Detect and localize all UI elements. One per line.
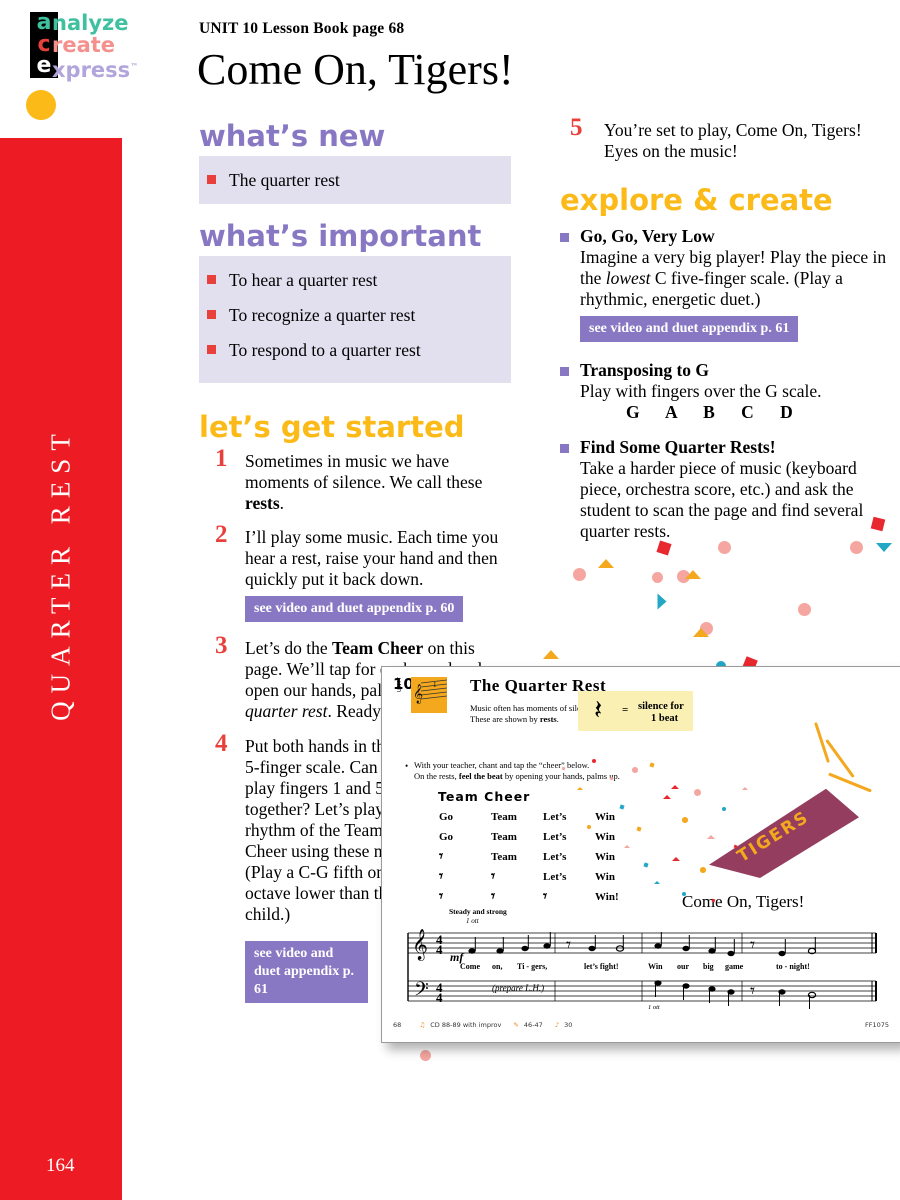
cheer-word-cell: Let’s	[542, 870, 594, 890]
lets-get-started-heading: let’s get started	[199, 411, 511, 443]
bullet-dot-icon: •	[405, 761, 408, 772]
svg-text:big: big	[703, 962, 714, 971]
step-text: I’ll play some music. Each time you hear…	[245, 527, 498, 589]
music-score: 𝄞 𝄢 4 4 4 4 mf	[400, 929, 884, 1011]
inset-footer-cd: CD 88-89 with improv	[430, 1021, 501, 1029]
svg-text:our: our	[677, 962, 689, 971]
cd-icon: ♫	[419, 1021, 425, 1029]
svg-text:1 ott: 1 ott	[648, 1004, 660, 1011]
list-item: The quarter rest	[229, 169, 499, 191]
explore-create-heading: explore & create	[560, 184, 890, 216]
purple-square-bullet-icon	[560, 444, 569, 453]
red-square-bullet-icon	[207, 310, 216, 319]
tempo-marking: Steady and strong	[449, 907, 507, 916]
confetti-square	[649, 762, 654, 767]
quarter-rest-cell: 𝄾	[438, 870, 490, 890]
callout-line2: 1 beat	[651, 713, 678, 724]
inset-footer: 68 ♫ CD 88-89 with improv ✎ 46-47 ♪ 30 F…	[393, 1021, 889, 1029]
step-number: 5	[570, 117, 583, 138]
confetti-triangle	[658, 594, 667, 610]
confetti-triangle	[543, 650, 559, 659]
cheer-word-cell: Win	[594, 870, 646, 890]
logo-word-analyze: nalyze	[52, 13, 138, 35]
equals-sign: =	[622, 704, 628, 716]
whats-new-heading: what’s new	[199, 120, 511, 152]
confetti-circle	[652, 572, 663, 583]
cheer-word-cell: Let’s	[542, 850, 594, 870]
confetti-circle	[700, 622, 713, 635]
cheer-word-cell: Team	[490, 810, 542, 830]
grand-staff-svg: 𝄞 𝄢 4 4 4 4 mf	[400, 929, 884, 1011]
explore-item-transposing-to-g: Transposing to G Play with fingers over …	[560, 360, 890, 423]
explore-item-go-go-very-low: Go, Go, Very Low Imagine a very big play…	[560, 226, 890, 342]
megaphone-graphic: TIGERS	[709, 783, 859, 878]
confetti-triangle	[598, 559, 614, 568]
whats-new-box: The quarter rest	[199, 156, 511, 204]
svg-text:let’s fight!: let’s fight!	[584, 962, 619, 971]
unit-breadcrumb: UNIT 10 Lesson Book page 68	[199, 20, 404, 38]
list-item-label: To respond to a quarter rest	[229, 340, 421, 360]
inset-footer-code: FF1075	[865, 1021, 889, 1029]
cheer-word-cell: Team	[490, 830, 542, 850]
svg-text:Win: Win	[648, 962, 663, 971]
svg-text:to - night!: to - night!	[776, 962, 810, 971]
svg-text:(prepare L.H.): (prepare L.H.)	[492, 983, 544, 993]
team-cheer-title: Team Cheer	[438, 789, 530, 804]
step-number: 4	[215, 733, 228, 754]
svg-text:1: 1	[433, 681, 437, 689]
table-row: 𝄾TeamLet’sWin	[438, 850, 646, 870]
svg-text:𝄞: 𝄞	[413, 684, 423, 704]
confetti-circle	[682, 817, 688, 823]
confetti-circle	[420, 1050, 431, 1061]
logo-word-create: reate	[52, 35, 138, 57]
list-item: To respond to a quarter rest	[229, 339, 499, 361]
step-number: 3	[215, 635, 228, 656]
purple-square-bullet-icon	[560, 367, 569, 376]
cheer-word-cell: Win	[594, 850, 646, 870]
svg-text:𝄾: 𝄾	[566, 934, 571, 956]
svg-text:𝄾: 𝄾	[750, 980, 755, 1002]
appendix-chip[interactable]: see video and duet appendix p. 61	[245, 941, 368, 1003]
step-5: 5 You’re set to play, Come On, Tigers! E…	[560, 120, 890, 162]
purple-square-bullet-icon	[560, 233, 569, 242]
step-text: You’re set to play, Come On, Tigers! Eye…	[604, 120, 862, 161]
unit-badge: 10 UNIT 𝄞 1	[393, 677, 455, 715]
cheer-word-cell: Win	[594, 830, 646, 850]
ottava-marking: 1 ott	[466, 917, 479, 925]
cheer-word-cell: Go	[438, 830, 490, 850]
list-item: To recognize a quarter rest	[229, 304, 499, 326]
confetti-triangle	[672, 857, 680, 861]
explore-item-title: Transposing to G	[580, 360, 709, 380]
explore-item-find-some-quarter-rests: Find Some Quarter Rests! Take a harder p…	[560, 437, 890, 542]
book-icon: ♪	[555, 1021, 559, 1029]
logo-words: nalyze reate xpress™	[52, 13, 138, 82]
whats-important-box: To hear a quarter rest To recognize a qu…	[199, 256, 511, 383]
appendix-chip[interactable]: see video and duet appendix p. 60	[245, 596, 463, 622]
cheer-word-cell: Win!	[594, 890, 646, 910]
quarter-rest-cell: 𝄾	[490, 870, 542, 890]
red-square-bullet-icon	[207, 345, 216, 354]
staff-lines-icon: 𝄞 1	[411, 677, 447, 713]
team-cheer-table: GoTeamLet’sWinGoTeamLet’sWin𝄾TeamLet’sWi…	[438, 810, 646, 910]
svg-text:Come: Come	[460, 962, 480, 971]
confetti-triangle	[654, 881, 660, 884]
step-number: 1	[215, 448, 228, 469]
inset-footer-extra: 30	[564, 1021, 572, 1029]
list-item: To hear a quarter rest	[229, 269, 499, 291]
unit-badge-swatch: 𝄞 1	[411, 677, 447, 713]
confetti-circle	[632, 767, 638, 773]
table-row: 𝄾𝄾Let’sWin	[438, 870, 646, 890]
appendix-chip[interactable]: see video and duet appendix p. 61	[580, 316, 798, 342]
step-1: 1 Sometimes in music we have moments of …	[199, 451, 511, 514]
explore-item-body: Take a harder piece of music (keyboard p…	[580, 458, 863, 541]
svg-text:4: 4	[436, 990, 443, 1005]
table-row: GoTeamLet’sWin	[438, 810, 646, 830]
logo-word-express: xpress™	[52, 56, 138, 82]
step-text: Sometimes in music we have moments of si…	[245, 451, 482, 513]
confetti-circle	[798, 603, 811, 616]
page-number: 164	[46, 1155, 75, 1177]
confetti-triangle	[693, 628, 709, 637]
confetti-triangle	[685, 570, 701, 579]
list-item-label: To hear a quarter rest	[229, 270, 377, 290]
inset-footer-page: 68	[393, 1021, 401, 1029]
red-square-bullet-icon	[207, 175, 216, 184]
sidebar-topic-label: QUARTER REST	[46, 426, 77, 721]
step-number: 2	[215, 524, 228, 545]
list-item-label: The quarter rest	[229, 170, 340, 190]
scale-note-row: G A B C D	[626, 402, 890, 423]
cheer-word-cell: Let’s	[542, 830, 594, 850]
confetti-triangle	[663, 795, 671, 799]
right-column: 5 You’re set to play, Come On, Tigers! E…	[560, 120, 890, 556]
inset-instruction-text: With your teacher, chant and tap the “ch…	[414, 760, 620, 781]
svg-text:game: game	[725, 962, 744, 971]
list-item-label: To recognize a quarter rest	[229, 305, 415, 325]
explore-item-body: Play with fingers over the G scale.	[580, 381, 822, 401]
svg-text:𝄾: 𝄾	[750, 934, 755, 956]
explore-item-body: Imagine a very big player! Play the piec…	[580, 247, 886, 309]
quarter-rest-icon: 𝄽	[594, 697, 602, 724]
trademark-mark: ™	[130, 62, 138, 71]
red-square-bullet-icon	[207, 275, 216, 284]
explore-item-title: Go, Go, Very Low	[580, 226, 715, 246]
confetti-square	[619, 804, 624, 809]
step-2: 2 I’ll play some music. Each time you he…	[199, 527, 511, 622]
ace-logo: a c e nalyze reate xpress™	[30, 12, 150, 78]
left-red-sidebar: QUARTER REST	[0, 138, 122, 1200]
lesson-book-page-inset: 10 UNIT 𝄞 1 The Quarter Rest Music often…	[381, 666, 900, 1043]
svg-text:𝄞: 𝄞	[412, 929, 428, 961]
table-row: GoTeamLet’sWin	[438, 830, 646, 850]
inset-piece-title: Come On, Tigers!	[682, 892, 804, 912]
inset-footer-track: 46-47	[524, 1021, 543, 1029]
callout-line1: silence for	[638, 701, 684, 712]
cheer-word-cell: Go	[438, 810, 490, 830]
confetti-triangle	[671, 785, 679, 789]
unit-badge-word: UNIT	[397, 676, 403, 692]
svg-text:𝄢: 𝄢	[414, 979, 429, 1005]
confetti-circle	[573, 568, 586, 581]
svg-text:4: 4	[436, 942, 443, 957]
confetti-circle	[677, 570, 690, 583]
confetti-triangle	[577, 787, 583, 790]
whats-important-heading: what’s important	[199, 220, 511, 252]
inset-instruction: • With your teacher, chant and tap the “…	[414, 760, 620, 782]
pencil-icon: ✎	[513, 1021, 518, 1029]
svg-text:on,: on,	[492, 962, 502, 971]
silence-callout-box: 𝄽 = silence for 1 beat	[578, 691, 693, 731]
page-title: Come On, Tigers!	[197, 44, 514, 95]
explore-item-title: Find Some Quarter Rests!	[580, 437, 776, 457]
svg-text:Ti - gers,: Ti - gers,	[517, 962, 547, 971]
yellow-dot-decoration	[26, 90, 56, 120]
quarter-rest-cell: 𝄾	[438, 850, 490, 870]
confetti-circle	[700, 867, 706, 873]
cheer-word-cell: Team	[490, 850, 542, 870]
cheer-word-cell: Win	[594, 810, 646, 830]
confetti-circle	[694, 789, 701, 796]
cheer-word-cell: Let’s	[542, 810, 594, 830]
quarter-rest-cell: 𝄾	[542, 890, 594, 910]
inset-subtext: Music often has moments of silence.These…	[470, 703, 595, 725]
